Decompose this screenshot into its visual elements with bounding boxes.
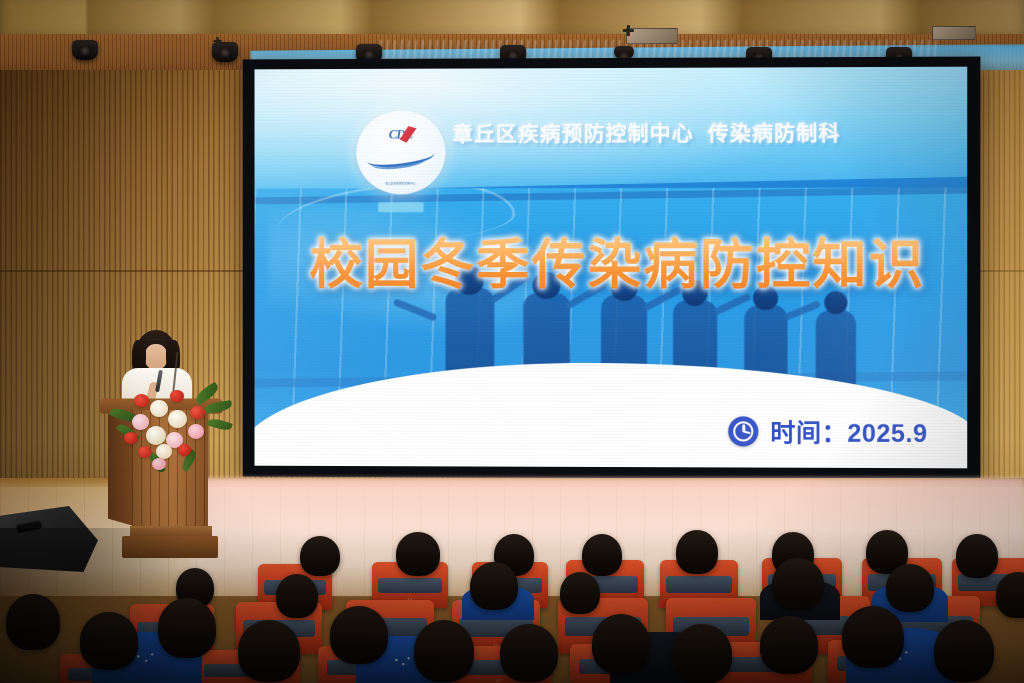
slide-logo-underline-tag <box>378 202 424 212</box>
flower-cream <box>150 400 168 417</box>
slide-time-label: 时间：2025.9 <box>770 413 927 450</box>
projection-screen: CDC 章丘区疾病预防控制中心 章丘区疾病预防控制中心传染病防制科 校园冬季传染… <box>254 67 967 469</box>
audience-head <box>956 534 998 578</box>
ceiling-fixture-marker: ✚ <box>622 24 635 39</box>
audience-head <box>772 558 824 610</box>
spotlight-lens <box>79 46 91 55</box>
audience-head <box>500 624 558 682</box>
audience-head <box>560 572 600 614</box>
clock-icon-ring <box>733 421 753 441</box>
audience-head <box>760 616 818 674</box>
presenter-face <box>145 344 168 370</box>
flower-red <box>138 446 152 458</box>
spotlight-lens <box>363 50 375 59</box>
cdc-logo: CDC 章丘区疾病预防控制中心 <box>356 110 445 194</box>
audience-head <box>276 574 318 618</box>
flower-red <box>170 390 184 402</box>
slide-main-title: 校园冬季传染病防控知识 <box>286 219 949 299</box>
flower-pink <box>188 424 204 439</box>
audience-head <box>6 594 60 650</box>
flower-pink <box>132 414 149 430</box>
audience-head <box>672 624 732 683</box>
audience-head <box>80 612 138 670</box>
floral-arrangement <box>112 386 232 472</box>
audience-head <box>886 564 934 612</box>
glasses-icon <box>146 339 166 344</box>
slide-time-row: 时间：2025.9 <box>728 413 928 450</box>
audience-head <box>414 620 474 682</box>
spotlight-lens <box>219 48 231 57</box>
projection-screen-bezel: CDC 章丘区疾病预防控制中心 章丘区疾病预防控制中心传染病防制科 校园冬季传染… <box>243 57 981 480</box>
audience-head <box>842 606 904 668</box>
flower-red <box>134 394 149 407</box>
slide-header-org: 章丘区疾病预防控制中心 <box>452 123 694 147</box>
ceiling-vent <box>932 26 976 40</box>
audience-head <box>330 606 388 664</box>
audience-head <box>934 620 994 682</box>
seat-cushion <box>666 576 732 592</box>
seat-cushion <box>378 578 442 594</box>
slide-header-text: 章丘区疾病预防控制中心传染病防制科 <box>452 117 938 148</box>
flower-cream <box>168 410 187 428</box>
flower-cream <box>156 444 172 459</box>
seat-number: 32 <box>495 678 500 683</box>
flower-leaf <box>203 400 232 414</box>
clock-icon <box>728 416 758 446</box>
ceiling-fixture-marker: ✚ <box>213 36 222 47</box>
audience-area: 11 12 13 14 15 16 21 22 23 24 25 <box>0 528 1024 683</box>
audience-head <box>158 598 216 658</box>
slide-header-dept: 传染病防制科 <box>708 123 841 146</box>
audience-head <box>592 614 650 674</box>
flower-pink <box>152 458 166 470</box>
auditorium-photo: ✚ ✚ <box>0 0 1024 683</box>
audience-head <box>396 532 440 576</box>
flower-red <box>124 432 138 444</box>
audience-head <box>470 562 518 610</box>
cdc-logo-inner: CDC 章丘区疾病预防控制中心 <box>364 118 437 187</box>
flower-cream <box>146 426 166 445</box>
audience-head <box>300 536 340 576</box>
cdc-logo-subtitle: 章丘区疾病预防控制中心 <box>364 182 437 186</box>
flower-red <box>178 444 191 456</box>
spotlight-icon <box>72 40 98 60</box>
audience-head <box>582 534 622 576</box>
flower-red <box>190 406 205 419</box>
flower-leaf <box>207 417 233 433</box>
audience-head <box>676 530 718 574</box>
audience-head <box>238 620 300 682</box>
